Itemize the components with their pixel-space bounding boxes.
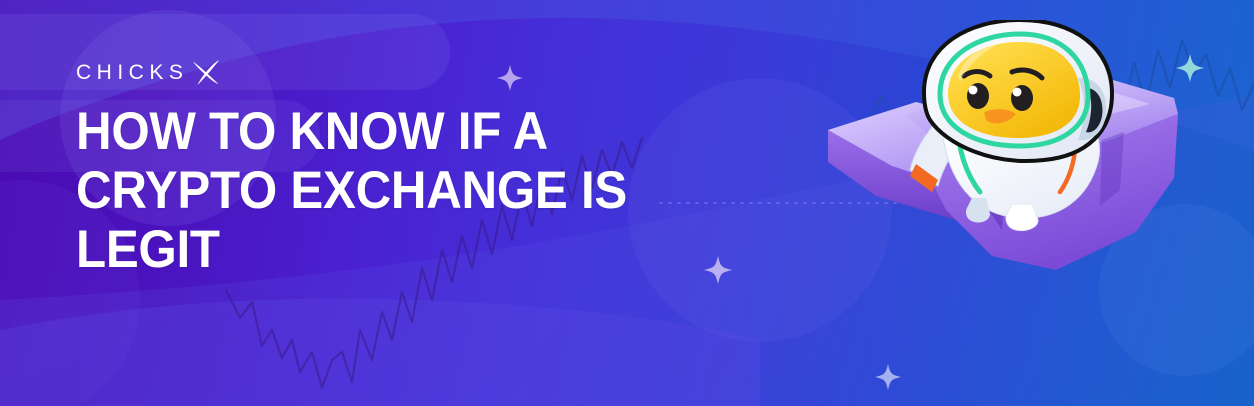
brand-logo[interactable]: CHICKS (76, 55, 223, 89)
hero-banner: CHICKS HOW TO KNOW IF A CRYPTO EXCHANGE … (0, 0, 1254, 406)
mascot-eye-right-highlight (1013, 88, 1022, 97)
logo-wordmark: CHICKS (76, 62, 188, 83)
page-title: HOW TO KNOW IF A CRYPTO EXCHANGE IS LEGI… (76, 103, 671, 279)
sparkle-top-center (497, 65, 523, 91)
stylized-x-icon (189, 55, 223, 89)
mascot-foot-right (1006, 204, 1038, 231)
mascot-eye-left-highlight (969, 86, 978, 95)
hero-illustration (806, 20, 1226, 406)
astronaut-chick-scene (806, 20, 1226, 406)
